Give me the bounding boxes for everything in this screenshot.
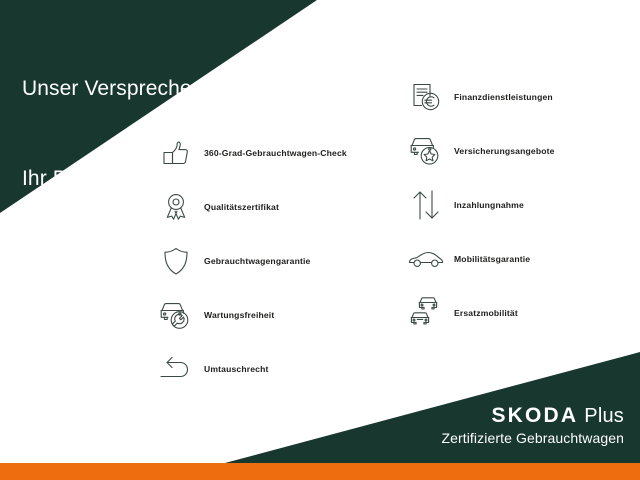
feature-item: Versicherungsangebote [398, 124, 628, 178]
orange-accent-bar [0, 463, 640, 480]
feature-item: Qualitätszertifikat [148, 180, 378, 234]
feature-label: Finanzdienstleistungen [454, 92, 553, 103]
feature-item: Finanzdienstleistungen [398, 70, 628, 124]
feature-label: Versicherungsangebote [454, 146, 555, 157]
feature-label: Mobilitätsgarantie [454, 254, 530, 265]
award-rosette-icon [148, 185, 204, 229]
headline-line-1: Unser Versprechen. [22, 74, 209, 104]
feature-item: Gebrauchtwagengarantie [148, 234, 378, 288]
feature-item: Wartungsfreiheit [148, 288, 378, 342]
logo-wordmark-row: SKODA Plus [441, 404, 624, 428]
return-arrow-icon [148, 347, 204, 391]
feature-item: Inzahlungnahme [398, 178, 628, 232]
plus-wordmark: Plus [584, 405, 624, 428]
feature-label: Gebrauchtwagengarantie [204, 256, 310, 267]
feature-label: 360-Grad-Gebrauchtwagen-Check [204, 148, 347, 159]
feature-item: Ersatzmobilität [398, 286, 628, 340]
feature-list-right: Finanzdienstleistungen Versicherungsange… [398, 70, 628, 340]
logo-subtitle: Zertifizierte Gebrauchtwagen [441, 429, 624, 447]
feature-item: 360-Grad-Gebrauchtwagen-Check [148, 126, 378, 180]
skoda-wordmark: SKODA [491, 404, 578, 427]
feature-item: Mobilitätsgarantie [398, 232, 628, 286]
feature-label: Wartungsfreiheit [204, 310, 274, 321]
thumbs-up-icon [148, 131, 204, 175]
document-euro-icon [398, 75, 454, 119]
skoda-plus-logo: SKODA Plus Zertifizierte Gebrauchtwagen [441, 404, 624, 447]
feature-label: Inzahlungnahme [454, 200, 524, 211]
promo-banner: Unser Versprechen. Ihr Plus. 360-Grad-Ge… [0, 0, 640, 480]
car-wrench-icon [148, 293, 204, 337]
car-star-icon [398, 129, 454, 173]
shield-icon [148, 239, 204, 283]
feature-label: Ersatzmobilität [454, 308, 518, 319]
feature-label: Qualitätszertifikat [204, 202, 279, 213]
two-cars-icon [398, 291, 454, 335]
up-down-arrows-icon [398, 183, 454, 227]
feature-label: Umtauschrecht [204, 364, 269, 375]
feature-item: Umtauschrecht [148, 342, 378, 396]
car-side-icon [398, 237, 454, 281]
feature-list-left: 360-Grad-Gebrauchtwagen-Check Qualitätsz… [148, 126, 378, 396]
